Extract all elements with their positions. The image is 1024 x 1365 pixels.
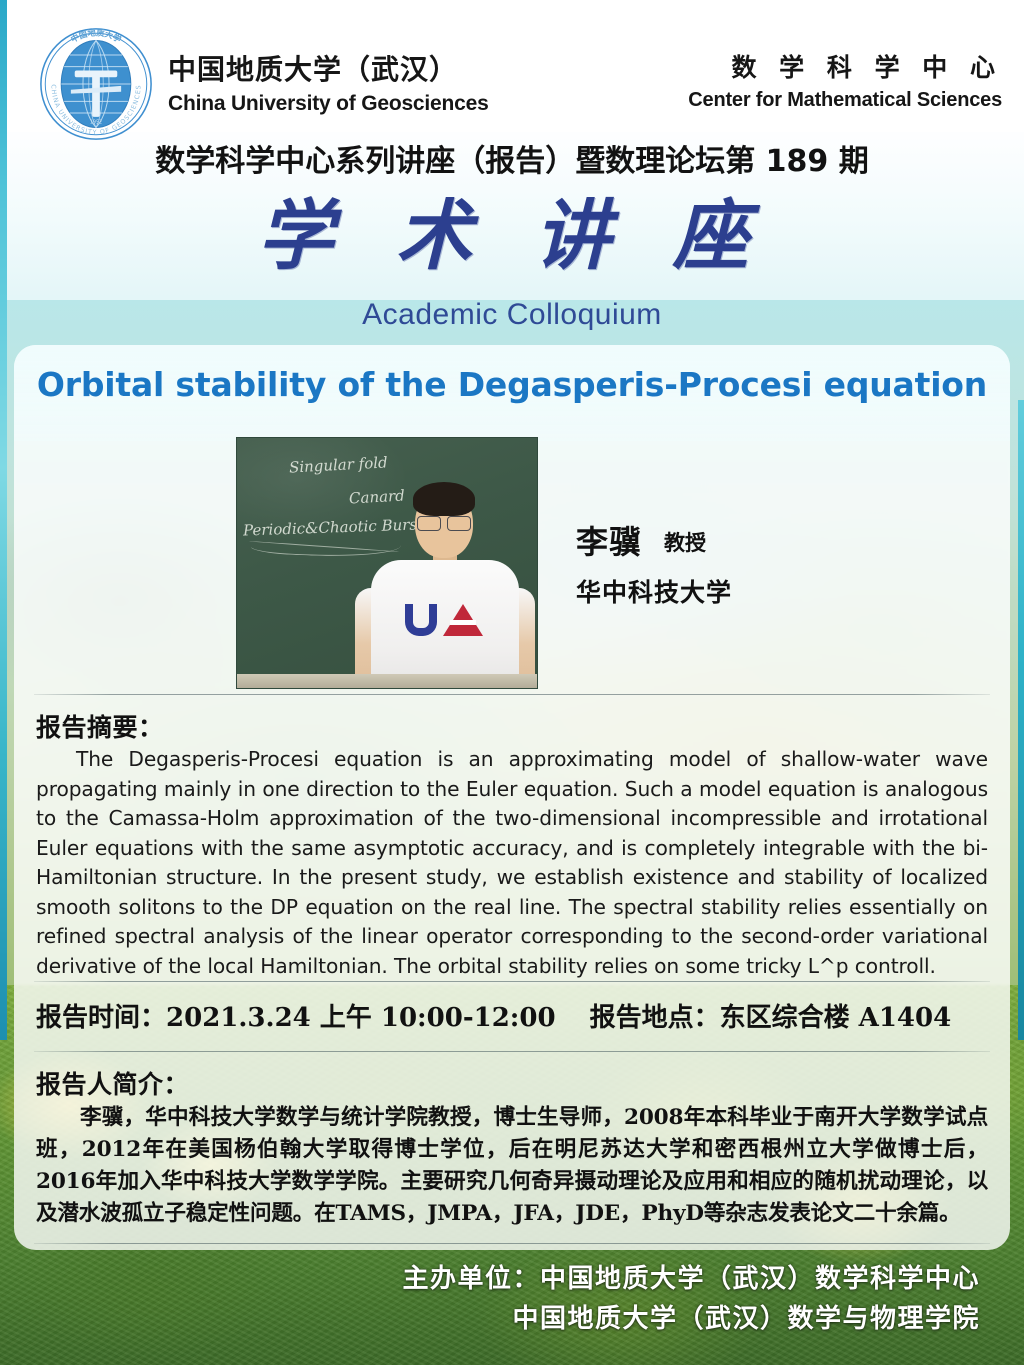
organizer-line-1: 主办单位：中国地质大学（武汉）数学科学中心: [402, 1259, 980, 1299]
venue-value: 东区综合楼 A1404: [720, 1003, 952, 1033]
main-content-panel: Orbital stability of the Degasperis-Proc…: [14, 345, 1010, 1250]
center-name-block: 数 学 科 学 中 心 Center for Mathematical Scie…: [688, 48, 1002, 112]
university-name-cn: 中国地质大学（武汉）: [168, 48, 489, 88]
bio-label: 报告人简介：: [36, 1065, 189, 1101]
poster-root: 1952 中国地质大学 CHINA UNIVERSITY OF GEOSCIEN…: [0, 0, 1024, 1365]
poster-footer: 主办单位：中国地质大学（武汉）数学科学中心 中国地质大学（武汉）数学与物理学院: [402, 1259, 980, 1339]
talk-title: Orbital stability of the Degasperis-Proc…: [14, 365, 1010, 404]
speaker-name: 李骥: [576, 517, 642, 563]
speaker-affiliation: 华中科技大学: [576, 573, 732, 609]
time-value: 2021.3.24 上午 10:00-12:00: [166, 1003, 556, 1033]
ua-letter-a: [443, 604, 483, 636]
bio-text: 李骥，华中科技大学数学与统计学院教授，博士生导师，2008年本科毕业于南开大学数…: [36, 1102, 988, 1230]
speaker-row: Singular fold Canard Periodic&Chaotic Bu…: [14, 437, 1010, 695]
tshirt-ua-logo-icon: [405, 604, 487, 638]
divider-below-schedule: [34, 1051, 990, 1052]
center-name-cn: 数 学 科 学 中 心: [688, 48, 1002, 84]
center-name-en: Center for Mathematical Sciences: [688, 89, 1002, 112]
svg-text:1952: 1952: [90, 120, 102, 126]
speaker-rank: 教授: [664, 527, 706, 557]
divider-above-schedule: [34, 981, 990, 982]
time-label: 报告时间：: [36, 1003, 166, 1033]
ua-letter-u: [405, 604, 437, 636]
university-name-block: 中国地质大学（武汉） China University of Geoscienc…: [168, 48, 489, 116]
calligraphy-title-cn: 学 术 讲 座: [0, 196, 1024, 276]
university-name-en: China University of Geosciences: [168, 92, 489, 116]
person-hair: [413, 482, 475, 516]
chalkboard-line-2: Canard: [349, 487, 406, 508]
abstract-text: The Degasperis-Procesi equation is an ap…: [36, 745, 988, 981]
venue-label: 报告地点：: [590, 1003, 720, 1033]
divider-above-abstract: [34, 694, 990, 695]
divider-below-bio: [34, 1243, 990, 1244]
chalkboard-tray: [237, 674, 538, 688]
calligraphy-subtitle-en: Academic Colloquium: [0, 298, 1024, 332]
series-line: 数学科学中心系列讲座（报告）暨数理论坛第 189 期: [0, 136, 1024, 180]
poster-header: 1952 中国地质大学 CHINA UNIVERSITY OF GEOSCIEN…: [0, 0, 1024, 132]
schedule-row: 报告时间：2021.3.24 上午 10:00-12:00报告地点：东区综合楼 …: [36, 997, 988, 1034]
abstract-label: 报告摘要：: [36, 708, 164, 744]
cug-seal-logo-icon: 1952 中国地质大学 CHINA UNIVERSITY OF GEOSCIEN…: [38, 26, 154, 142]
person-glasses-icon: [417, 516, 471, 529]
speaker-photo: Singular fold Canard Periodic&Chaotic Bu…: [236, 437, 538, 689]
organizer-line-2: 中国地质大学（武汉）数学与物理学院: [402, 1299, 980, 1339]
right-edge-accent-stripe: [1018, 400, 1024, 1040]
